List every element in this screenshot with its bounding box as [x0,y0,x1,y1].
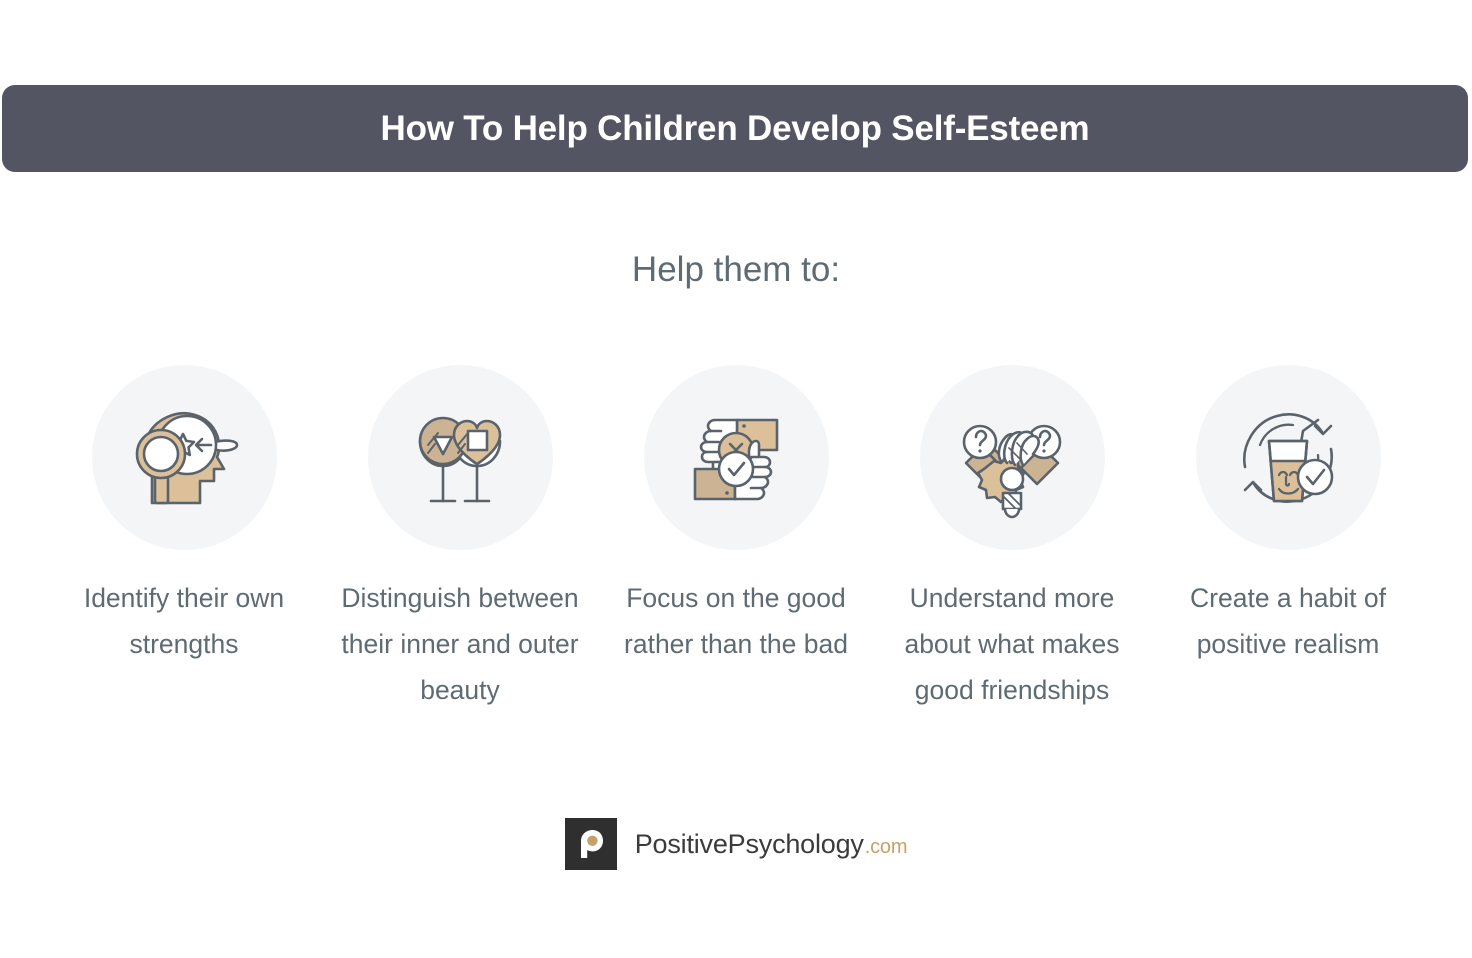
subtitle: Help them to: [0,250,1472,290]
thumbs-up-down-icon [671,393,801,523]
icon-circle [920,365,1105,550]
card-caption: Distinguish between their inner and oute… [325,576,595,714]
card-caption: Focus on the good rather than the bad [601,576,871,668]
head-magnifier-star-icon [119,393,249,523]
logo-p-glyph [574,827,608,861]
card-focus-good: Focus on the good rather than the bad [598,365,874,668]
footer-branding: PositivePsychology .com [0,818,1472,870]
cards-row: Identify their own strengths [46,365,1426,714]
card-identify-strengths: Identify their own strengths [46,365,322,668]
header-bar: How To Help Children Develop Self-Esteem [2,85,1468,172]
card-inner-outer-beauty: Distinguish between their inner and oute… [322,365,598,714]
card-caption: Create a habit of positive realism [1153,576,1423,668]
card-caption: Identify their own strengths [49,576,319,668]
brand-name: PositivePsychology [635,829,864,860]
positivepsychology-p-logo-icon [565,818,617,870]
mirrors-inner-outer-beauty-icon [395,393,525,523]
page-title: How To Help Children Develop Self-Esteem [381,109,1090,149]
icon-circle [92,365,277,550]
card-good-friendships: Understand more about what makes good fr… [874,365,1150,714]
card-positive-realism: Create a habit of positive realism [1150,365,1426,668]
icon-circle [644,365,829,550]
icon-circle [368,365,553,550]
brand-text: PositivePsychology .com [635,829,908,860]
half-full-glass-smile-icon [1223,393,1353,523]
card-caption: Understand more about what makes good fr… [877,576,1147,714]
infographic-page: How To Help Children Develop Self-Esteem… [0,0,1472,958]
handshake-gear-question-icon [947,393,1077,523]
brand-tld: .com [865,836,908,859]
icon-circle [1196,365,1381,550]
